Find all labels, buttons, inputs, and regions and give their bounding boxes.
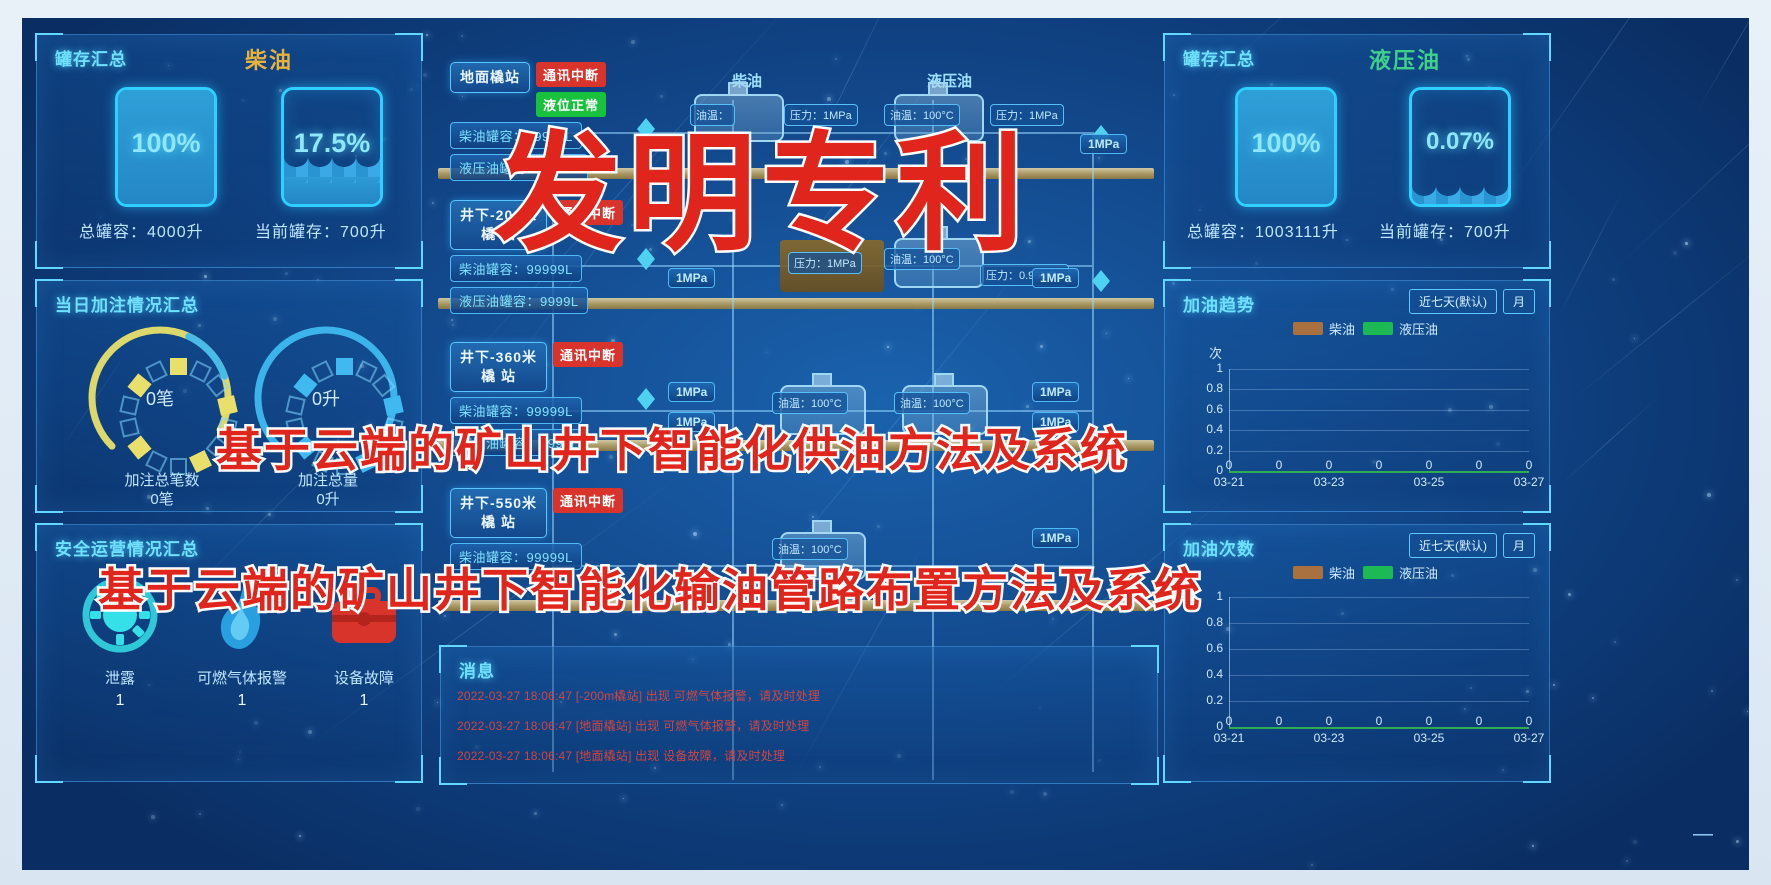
x-axis-tick: 03-23 <box>1307 731 1351 745</box>
refuel-count-range-buttons[interactable]: 近七天(默认) 月 <box>1403 533 1535 558</box>
legend-label-hydraulic-2: 液压油 <box>1399 563 1438 582</box>
panel-title-diesel: 罐存汇总 <box>55 45 127 70</box>
panel-title-hydraulic: 罐存汇总 <box>1183 45 1255 70</box>
data-point-label: 0 <box>1469 458 1489 472</box>
vessel-550m-diesel-neck <box>812 520 832 534</box>
refuel-trend-range-buttons[interactable]: 近七天(默认) 月 <box>1403 289 1535 314</box>
grid-line <box>1229 369 1529 370</box>
series-line-1 <box>1229 471 1529 473</box>
y-axis-tick: 0.2 <box>1195 693 1223 707</box>
station-360m-badge-comm: 通讯中断 <box>553 342 623 367</box>
hydraulic-total-percent: 100% <box>1238 128 1334 159</box>
data-point-label: 0 <box>1519 458 1539 472</box>
data-point-label: 0 <box>1419 714 1439 728</box>
grid-line <box>1229 389 1529 390</box>
panel-diesel-tank-summary: 罐存汇总 柴油 100% 17.5% 总罐容：4000升 当前罐存：700升 <box>36 34 422 268</box>
x-axis-tick: 03-21 <box>1207 731 1251 745</box>
list-item: 2022-03-27 18:06:47 [地面橇站] 出现 设备故障，请及时处理 <box>457 747 1145 764</box>
station-550m-badge-comm: 通讯中断 <box>553 488 623 513</box>
diesel-current-tank-gauge: 17.5% <box>281 87 383 207</box>
x-axis-tick: 03-27 <box>1507 731 1551 745</box>
data-point-label: 0 <box>1419 458 1439 472</box>
data-point-label: 0 <box>1219 714 1239 728</box>
pressure-tag-8: 1MPa <box>1032 528 1079 548</box>
panel-title-messages: 消息 <box>459 657 495 682</box>
screen: 罐存汇总 柴油 100% 17.5% 总罐容：4000升 当前罐存：700升 当… <box>22 18 1749 870</box>
grid-line <box>1229 701 1529 702</box>
panel-refuel-count-chart: 加油次数 近七天(默认) 月 柴油 液压油 10.80.60.40.2003-2… <box>1164 524 1550 782</box>
range-button-month-2[interactable]: 月 <box>1503 533 1535 558</box>
grid-line <box>1229 649 1529 650</box>
y-axis-tick: 0.4 <box>1195 667 1223 681</box>
safety-value-gas-alarm: 1 <box>177 692 307 710</box>
panel-title-refuel-trend: 加油趋势 <box>1183 291 1255 316</box>
refuel-count-plot: 10.80.60.40.2003-210003-230003-250003-27… <box>1195 591 1535 749</box>
x-axis-tick: 03-21 <box>1207 475 1251 489</box>
panel-title-refuel: 当日加注情况汇总 <box>55 291 199 316</box>
panel-hydraulic-tank-summary: 罐存汇总 液压油 100% 0.07% 总罐容：1003111升 当前罐存：70… <box>1164 34 1550 268</box>
pressure-tag-6: 1MPa <box>1032 382 1079 402</box>
safety-label-leak: 泄露 <box>65 667 175 688</box>
diesel-total-capacity-label: 总罐容：4000升 <box>79 218 204 242</box>
safety-value-leak: 1 <box>65 692 175 710</box>
station-200m-hydraulic-capacity: 液压油罐容：9999L <box>450 287 588 314</box>
station-550m-name: 井下-550米 橇 站 <box>450 488 547 538</box>
grid-line <box>1229 451 1529 452</box>
grid-line <box>1229 430 1529 431</box>
grid-line <box>1229 597 1529 598</box>
refuel-count-gauge: 0笔 <box>85 323 235 473</box>
safety-label-gas-alarm: 可燃气体报警 <box>177 667 307 688</box>
refuel-count-caption: 加注总笔数 0笔 <box>107 471 217 509</box>
hydraulic-current-stock-label: 当前罐存：700升 <box>1379 218 1511 242</box>
x-axis-tick: 03-25 <box>1407 475 1451 489</box>
range-button-week[interactable]: 近七天(默认) <box>1409 289 1497 314</box>
legend-label-diesel-2: 柴油 <box>1329 563 1355 582</box>
message-list[interactable]: 2022-03-27 18:06:47 [-200m橇站] 出现 可燃气体报警，… <box>457 687 1145 777</box>
x-axis-tick: 03-23 <box>1307 475 1351 489</box>
data-point-label: 0 <box>1269 714 1289 728</box>
data-point-label: 0 <box>1469 714 1489 728</box>
hydraulic-total-capacity-label: 总罐容：1003111升 <box>1187 218 1339 242</box>
watermark-line-2: 基于云端的矿山井下智能化输油管路布置方法及系统 <box>98 554 1202 620</box>
collapse-button[interactable]: — <box>1693 823 1713 846</box>
pressure-tag-4: 1MPa <box>668 382 715 402</box>
range-button-month[interactable]: 月 <box>1503 289 1535 314</box>
safety-value-equipment-fault: 1 <box>309 692 419 710</box>
y-axis-line <box>1229 597 1230 727</box>
station-surface-name: 地面橇站 <box>450 62 530 93</box>
station-360m-name: 井下-360米 橇 站 <box>450 342 547 392</box>
legend-label-diesel: 柴油 <box>1329 319 1355 338</box>
diesel-total-tank-gauge: 100% <box>115 87 217 207</box>
safety-label-equipment-fault: 设备故障 <box>309 667 419 688</box>
watermark-title: 发明专利 <box>494 90 1030 275</box>
grid-line <box>1229 410 1529 411</box>
data-point-label: 0 <box>1219 458 1239 472</box>
diesel-current-stock-label: 当前罐存：700升 <box>255 218 387 242</box>
hydraulic-current-percent: 0.07% <box>1412 128 1508 156</box>
hydraulic-current-tank-gauge: 0.07% <box>1409 87 1511 207</box>
data-point-label: 0 <box>1369 714 1389 728</box>
panel-refuel-trend-chart: 加油趋势 近七天(默认) 月 柴油 液压油 次 10.80.60.40.2003… <box>1164 280 1550 512</box>
list-item: 2022-03-27 18:06:47 [地面橇站] 出现 可燃气体报警，请及时… <box>457 717 1145 734</box>
hydraulic-total-tank-gauge: 100% <box>1235 87 1337 207</box>
x-axis-tick: 03-27 <box>1507 475 1551 489</box>
list-item: 2022-03-27 18:06:47 [-200m橇站] 出现 可燃气体报警，… <box>457 687 1145 704</box>
watermark-line-1: 基于云端的矿山井下智能化供油方法及系统 <box>216 414 1128 480</box>
vessel-360m-diesel-temp: 油温：100°C <box>772 392 848 414</box>
diesel-product-label: 柴油 <box>245 43 293 75</box>
y-axis-tick: 0.6 <box>1195 402 1223 416</box>
range-button-week-2[interactable]: 近七天(默认) <box>1409 533 1497 558</box>
y-axis-line <box>1229 369 1230 471</box>
panel-messages: 消息 2022-03-27 18:06:47 [-200m橇站] 出现 可燃气体… <box>440 646 1158 784</box>
pressure-tag-3: 1MPa <box>1032 268 1079 288</box>
grid-line <box>1229 623 1529 624</box>
dashboard-root: 罐存汇总 柴油 100% 17.5% 总罐容：4000升 当前罐存：700升 当… <box>0 0 1771 885</box>
y-axis-tick: 0.2 <box>1195 443 1223 457</box>
data-point-label: 0 <box>1369 458 1389 472</box>
vessel-360m-hydraulic-temp: 油温：100°C <box>894 392 970 414</box>
vessel-360m-hydraulic-neck <box>934 373 954 387</box>
series-line-1 <box>1229 727 1529 729</box>
y-axis-tick: 1 <box>1195 361 1223 375</box>
data-point-label: 0 <box>1519 714 1539 728</box>
pressure-tag-1: 1MPa <box>1080 134 1127 154</box>
refuel-count-value: 0笔 <box>85 323 235 473</box>
diesel-total-percent: 100% <box>118 128 214 159</box>
refuel-trend-plot: 10.80.60.40.2003-210003-230003-250003-27… <box>1195 363 1535 493</box>
y-axis-tick: 0.6 <box>1195 641 1223 655</box>
data-point-label: 0 <box>1319 714 1339 728</box>
legend-label-hydraulic: 液压油 <box>1399 319 1438 338</box>
refuel-trend-legend: 柴油 液压油 <box>1293 319 1438 338</box>
hydraulic-product-label: 液压油 <box>1369 43 1441 75</box>
refuel-trend-yaxis-unit: 次 <box>1209 343 1222 362</box>
vessel-360m-diesel-neck <box>812 373 832 387</box>
grid-line <box>1229 675 1529 676</box>
data-point-label: 0 <box>1269 458 1289 472</box>
y-axis-tick: 0.4 <box>1195 422 1223 436</box>
data-point-label: 0 <box>1319 458 1339 472</box>
diesel-current-percent: 17.5% <box>284 128 380 159</box>
station-surface-badge-comm: 通讯中断 <box>536 62 606 87</box>
refuel-count-legend: 柴油 液压油 <box>1293 563 1438 582</box>
x-axis-tick: 03-25 <box>1407 731 1451 745</box>
y-axis-tick: 0.8 <box>1195 381 1223 395</box>
